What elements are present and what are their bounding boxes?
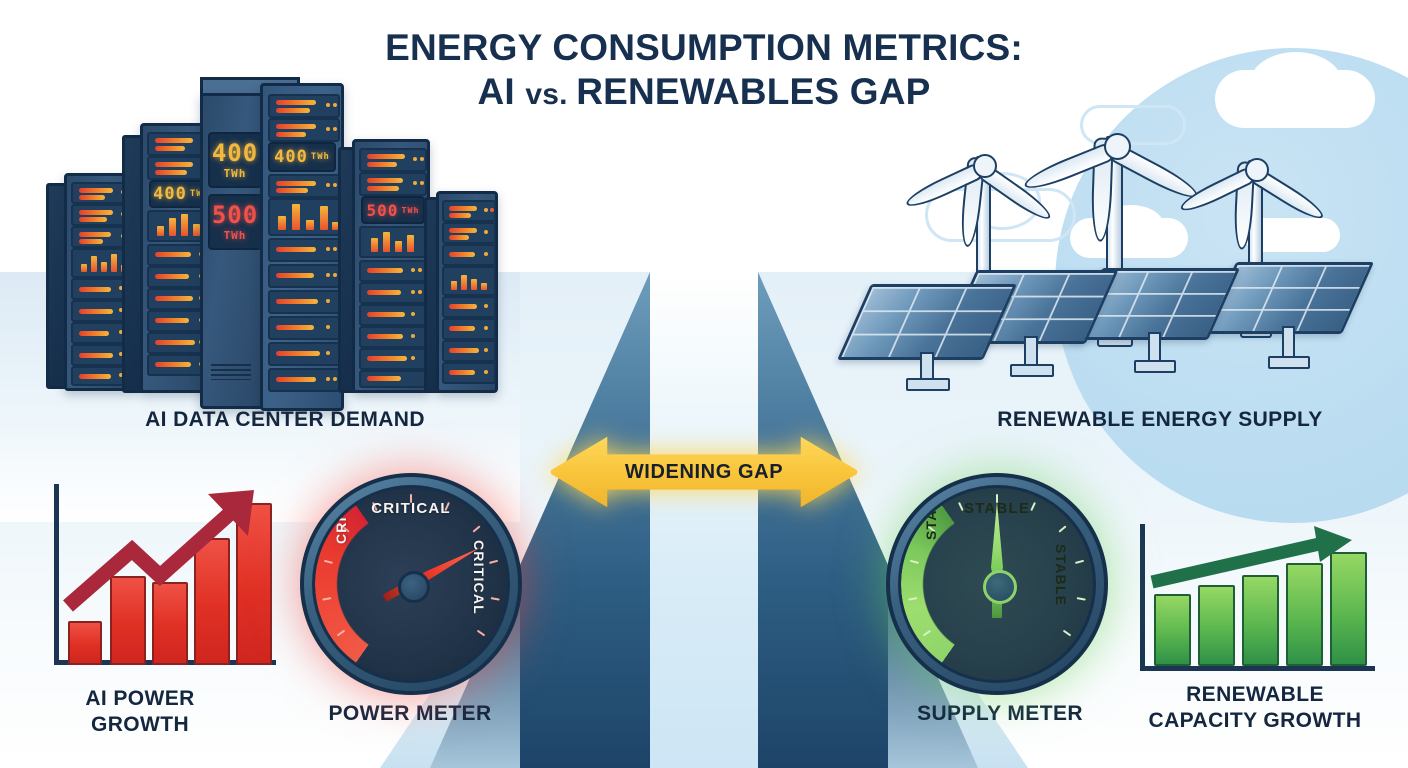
title-line-1: ENERGY CONSUMPTION METRICS: xyxy=(0,26,1408,70)
page-title: ENERGY CONSUMPTION METRICS: AI vs. RENEW… xyxy=(0,26,1408,113)
rising-trend-arrow-icon xyxy=(40,484,280,674)
gauge-dial: STABLE STABLE STABLE xyxy=(898,485,1096,683)
server-readout: 500 TWh xyxy=(208,194,262,250)
server-readout: 400TWh xyxy=(268,142,336,172)
title-renewables-gap: RENEWABLES GAP xyxy=(576,71,930,112)
infographic-canvas: 400TWh 400 TWh 500 TWh xyxy=(0,0,1408,768)
gauge-dial: CRITICAL CRITICAL CRITICAL xyxy=(312,485,510,683)
power-meter-gauge[interactable]: CRITICAL CRITICAL CRITICAL xyxy=(300,473,522,695)
server-rack xyxy=(436,191,498,393)
chart-title-line-2: CAPACITY GROWTH xyxy=(1120,708,1390,734)
chart-title-line-2: GROWTH xyxy=(40,712,240,738)
readout-unit: TWh xyxy=(311,152,330,162)
server-rack-center-right-face: 400TWh xyxy=(260,83,344,411)
caption-supply-meter: SUPPLY METER xyxy=(880,702,1120,726)
gauge-label-stable-right: STABLE xyxy=(1053,544,1069,606)
title-vs: vs. xyxy=(525,78,576,111)
widening-gap-banner[interactable]: WIDENING GAP xyxy=(548,432,860,512)
renewable-capacity-growth-chart xyxy=(1128,524,1378,674)
readout-unit: TWh xyxy=(401,205,419,215)
caption-ai-power-growth: AI POWER GROWTH xyxy=(40,686,240,737)
readout-value: 400 xyxy=(274,147,308,167)
server-rack-center-left-face: 400 TWh 500 TWh xyxy=(200,93,268,409)
ai-power-growth-chart xyxy=(40,484,280,674)
gauge-hub xyxy=(983,570,1017,604)
caption-renewable-capacity-growth: RENEWABLE CAPACITY GROWTH xyxy=(1120,682,1390,733)
gauge-label-critical-top: CRITICAL xyxy=(371,500,451,517)
readout-value: 500 xyxy=(212,203,258,227)
title-ai: AI xyxy=(477,71,525,112)
gauge-label-critical-left: CRITICAL xyxy=(333,485,349,544)
rising-trend-arrow-icon xyxy=(1128,524,1378,674)
readout-unit: TWh xyxy=(224,230,247,241)
widening-gap-label: WIDENING GAP xyxy=(548,432,860,512)
server-rack: 500TWh xyxy=(352,139,430,393)
caption-ai-data-center-demand: AI DATA CENTER DEMAND xyxy=(60,408,510,432)
server-readout: 500TWh xyxy=(361,196,425,224)
readout-value: 400 xyxy=(153,184,187,204)
readout-value: 500 xyxy=(367,201,399,220)
caption-renewable-energy-supply: RENEWABLE ENERGY SUPPLY xyxy=(930,408,1390,432)
chart-title-line-1: RENEWABLE xyxy=(1120,682,1390,708)
gap-core-band xyxy=(650,272,758,768)
readout-unit: TWh xyxy=(224,168,247,179)
readout-value: 400 xyxy=(212,141,258,165)
title-line-2: AI vs. RENEWABLES GAP xyxy=(0,70,1408,114)
supply-meter-gauge[interactable]: STABLE STABLE STABLE xyxy=(886,473,1108,695)
gauge-label-stable-left: STABLE xyxy=(923,485,939,540)
server-readout: 400 TWh xyxy=(208,132,262,188)
gauge-hub xyxy=(398,571,430,603)
caption-power-meter: POWER METER xyxy=(290,702,530,726)
chart-title-line-1: AI POWER xyxy=(40,686,240,712)
